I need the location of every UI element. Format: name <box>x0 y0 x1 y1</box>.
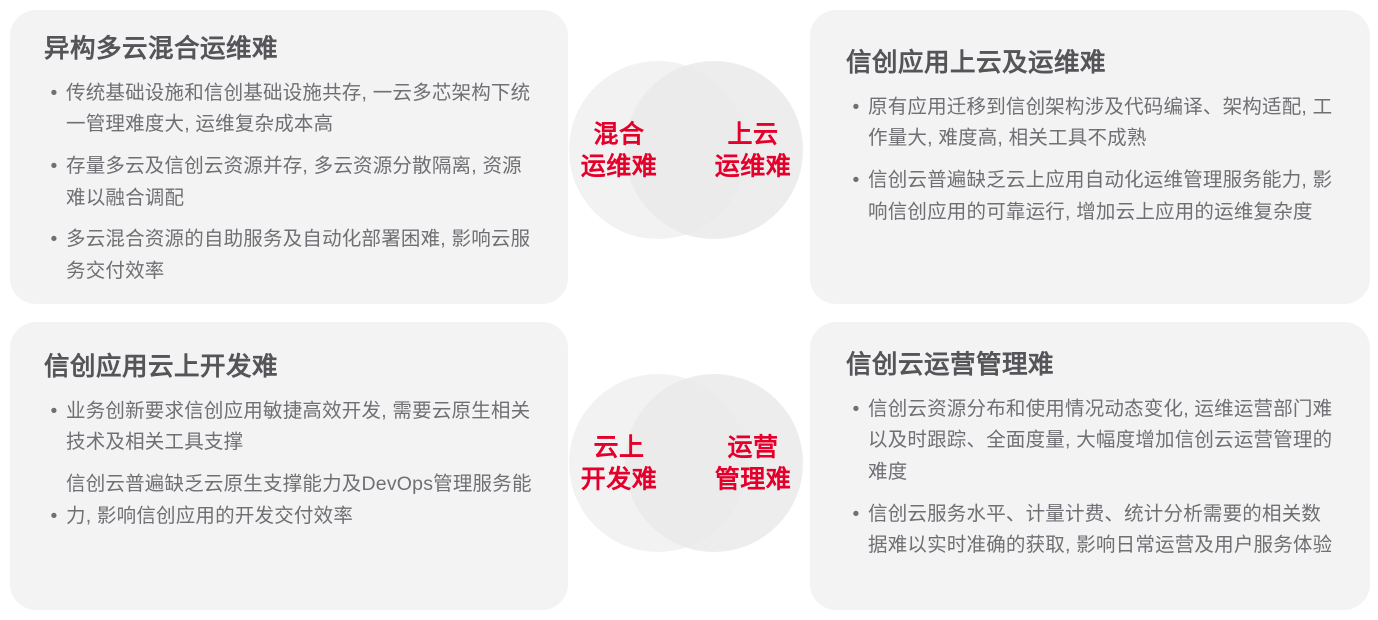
venn-label-cloud-development: 云上 开发难 <box>567 433 671 496</box>
list-item: • 原有应用迁移到信创架构涉及代码编译、架构适配, 工作量大, 难度高, 相关工… <box>846 92 1336 155</box>
venn-label-line2: 运维难 <box>567 151 671 183</box>
bullet-dot-icon: • <box>849 499 863 531</box>
list-item: • 业务创新要求信创应用敏捷高效开发, 需要云原生相关技术及相关工具支撑 <box>44 396 538 459</box>
bullet-list: • 信创云资源分布和使用情况动态变化, 运维运营部门难以及时跟踪、全面度量, 大… <box>846 394 1336 562</box>
venn-label-line2: 管理难 <box>701 464 805 496</box>
list-item: • 存量多云及信创云资源并存, 多云资源分散隔离, 资源难以融合调配 <box>44 151 538 214</box>
list-item: • 传统基础设施和信创基础设施共存, 一云多芯架构下统一管理难度大, 运维复杂成… <box>44 78 538 141</box>
venn-label-hybrid-ops: 混合 运维难 <box>567 120 671 183</box>
venn-label-line2: 开发难 <box>567 464 671 496</box>
panel-xinchuang-app-cloud-development: 信创应用云上开发难 • 业务创新要求信创应用敏捷高效开发, 需要云原生相关技术及… <box>10 322 568 610</box>
bullet-dot-icon: • <box>849 165 863 197</box>
list-item: • 信创云服务水平、计量计费、统计分析需要的相关数据难以实时准确的获取, 影响日… <box>846 499 1336 562</box>
list-item-text: 业务创新要求信创应用敏捷高效开发, 需要云原生相关技术及相关工具支撑 <box>66 400 530 454</box>
venn-label-line1: 上云 <box>701 120 805 152</box>
venn-diagram-bottom: 云上 开发难 运营 管理难 <box>569 374 803 554</box>
list-item-text: 原有应用迁移到信创架构涉及代码编译、架构适配, 工作量大, 难度高, 相关工具不… <box>868 96 1332 150</box>
list-item: • 信创云资源分布和使用情况动态变化, 运维运营部门难以及时跟踪、全面度量, 大… <box>846 394 1336 489</box>
bullet-dot-icon: • <box>849 92 863 124</box>
bullet-dot-icon: • <box>849 394 863 426</box>
bullet-dot-icon: • <box>47 224 61 256</box>
list-item-text: 信创云资源分布和使用情况动态变化, 运维运营部门难以及时跟踪、全面度量, 大幅度… <box>868 398 1332 483</box>
bullet-list: • 业务创新要求信创应用敏捷高效开发, 需要云原生相关技术及相关工具支撑 • 信… <box>44 396 538 532</box>
list-item-text: 信创云服务水平、计量计费、统计分析需要的相关数据难以实时准确的获取, 影响日常运… <box>868 503 1332 557</box>
list-item-text: 信创云普遍缺乏云原生支撑能力及DevOps管理服务能力, 影响信创应用的开发交付… <box>66 473 532 527</box>
venn-label-cloud-migration-ops: 上云 运维难 <box>701 120 805 183</box>
bullet-dot-icon: • <box>47 396 61 428</box>
panel-xinchuang-app-cloud-migration-ops: 信创应用上云及运维难 • 原有应用迁移到信创架构涉及代码编译、架构适配, 工作量… <box>810 10 1370 304</box>
panel-title: 信创应用上云及运维难 <box>846 48 1336 80</box>
venn-label-line2: 运维难 <box>701 151 805 183</box>
list-item-text: 多云混合资源的自助服务及自动化部署困难, 影响云服务交付效率 <box>66 228 530 282</box>
list-item: • 多云混合资源的自助服务及自动化部署困难, 影响云服务交付效率 <box>44 224 538 287</box>
bullet-list: • 传统基础设施和信创基础设施共存, 一云多芯架构下统一管理难度大, 运维复杂成… <box>44 78 538 287</box>
panel-title: 信创应用云上开发难 <box>44 352 538 384</box>
bullet-dot-icon: • <box>47 78 61 110</box>
panel-heterogeneous-multicloud-ops: 异构多云混合运维难 • 传统基础设施和信创基础设施共存, 一云多芯架构下统一管理… <box>10 10 568 304</box>
list-item-text: 传统基础设施和信创基础设施共存, 一云多芯架构下统一管理难度大, 运维复杂成本高 <box>66 82 530 136</box>
list-item-text: 存量多云及信创云资源并存, 多云资源分散隔离, 资源难以融合调配 <box>66 155 522 209</box>
bullet-dot-icon: • <box>47 501 61 533</box>
infographic-canvas: 异构多云混合运维难 • 传统基础设施和信创基础设施共存, 一云多芯架构下统一管理… <box>0 0 1378 620</box>
venn-label-operations-management: 运营 管理难 <box>701 433 805 496</box>
list-item-text: 信创云普遍缺乏云上应用自动化运维管理服务能力, 影响信创应用的可靠运行, 增加云… <box>868 169 1332 223</box>
bullet-list: • 原有应用迁移到信创架构涉及代码编译、架构适配, 工作量大, 难度高, 相关工… <box>846 92 1336 228</box>
venn-label-line1: 运营 <box>701 433 805 465</box>
list-item: • 信创云普遍缺乏云上应用自动化运维管理服务能力, 影响信创应用的可靠运行, 增… <box>846 165 1336 228</box>
panel-xinchuang-cloud-operations-management: 信创云运营管理难 • 信创云资源分布和使用情况动态变化, 运维运营部门难以及时跟… <box>810 322 1370 610</box>
venn-diagram-top: 混合 运维难 上云 运维难 <box>569 61 803 241</box>
list-item: • 信创云普遍缺乏云原生支撑能力及DevOps管理服务能力, 影响信创应用的开发… <box>44 469 538 532</box>
venn-label-line1: 混合 <box>567 120 671 152</box>
venn-label-line1: 云上 <box>567 433 671 465</box>
panel-title: 异构多云混合运维难 <box>44 34 538 66</box>
bullet-dot-icon: • <box>47 151 61 183</box>
panel-title: 信创云运营管理难 <box>846 350 1336 382</box>
